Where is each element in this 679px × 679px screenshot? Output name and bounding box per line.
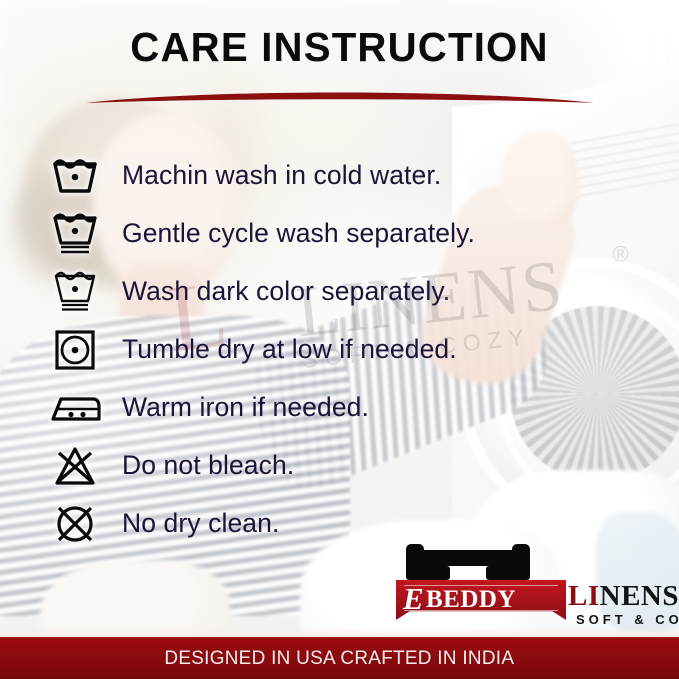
instruction-row: Gentle cycle wash separately. [0, 206, 679, 261]
no-dry-clean-icon [44, 501, 106, 547]
brand-logo[interactable]: E BEDDY LINENS® SOFT & COZY [396, 542, 668, 634]
beddy-banner: E BEDDY [396, 580, 566, 620]
instruction-label: No dry clean. [122, 508, 279, 539]
instruction-row: Do not bleach. [0, 438, 679, 493]
brand-name-linens: LINENS® [568, 582, 679, 611]
instruction-label: Gentle cycle wash separately. [122, 218, 475, 249]
instruction-label: Wash dark color separately. [122, 276, 450, 307]
do-not-bleach-icon [44, 443, 106, 489]
instruction-label: Do not bleach. [122, 450, 294, 481]
footer-text: DESIGNED IN USA CRAFTED IN INDIA [165, 647, 515, 670]
gentle-cycle-wash-icon [44, 211, 106, 257]
warm-iron-icon [44, 385, 106, 431]
linens-li: LI [568, 580, 600, 612]
brand-tagline: SOFT & COZY [576, 612, 679, 627]
brand-monogram: E [403, 581, 424, 617]
linens-nens: NENS [600, 580, 679, 612]
instruction-label: Machin wash in cold water. [122, 160, 441, 191]
footer-top-fade [0, 627, 679, 637]
instruction-label: Warm iron if needed. [122, 392, 369, 423]
bed-icon [404, 542, 532, 584]
instruction-row: Warm iron if needed. [0, 380, 679, 435]
brand-name-beddy: BEDDY [426, 586, 516, 614]
instruction-row: Tumble dry at low if needed. [0, 322, 679, 377]
footer-bar: DESIGNED IN USA CRAFTED IN INDIA [0, 637, 679, 679]
care-instruction-card: L LINENS ® SOFT & COZY CARE INSTRUCTION … [0, 0, 679, 679]
page-title: CARE INSTRUCTION [7, 24, 672, 71]
machine-wash-icon [44, 153, 106, 199]
instruction-label: Tumble dry at low if needed. [122, 334, 457, 365]
tumble-dry-low-icon [44, 327, 106, 373]
instruction-row: Machin wash in cold water. [0, 148, 679, 203]
wash-dark-color-icon [44, 269, 106, 315]
instruction-list: Machin wash in cold water. Gentle cycle … [0, 148, 679, 554]
instruction-row: Wash dark color separately. [0, 264, 679, 319]
